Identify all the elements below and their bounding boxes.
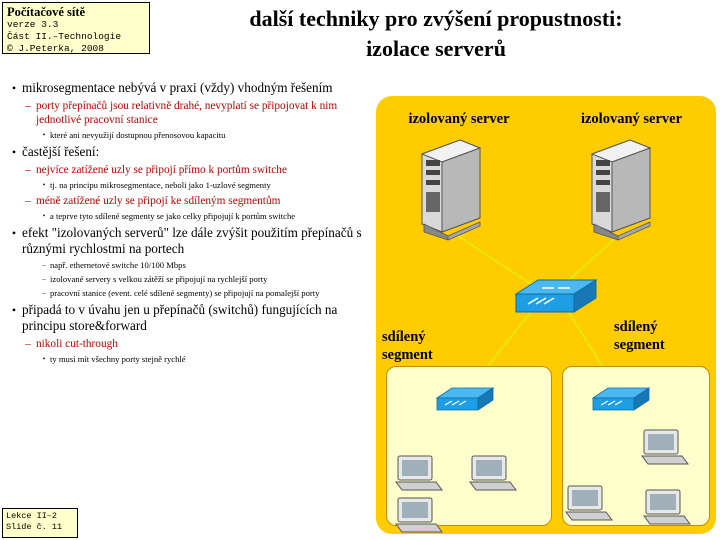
bullet-text: izolované servery s velkou zátěží se při…	[50, 274, 372, 285]
bullet-marker: –	[20, 163, 36, 177]
bullet-text: připadá to v úvahu jen u přepínačů (swit…	[22, 302, 372, 334]
workstation-icon	[394, 494, 450, 536]
list-item: •mikrosegmentace nebývá v praxi (vždy) v…	[6, 80, 372, 96]
bullet-list: •mikrosegmentace nebývá v praxi (vždy) v…	[6, 80, 372, 368]
list-item: –pracovní stanice (event. celé sdílené s…	[38, 288, 372, 299]
bullet-text: nejvíce zatížené uzly se připojí přímo k…	[36, 163, 372, 177]
page-title-line2: izolace serverů	[158, 34, 714, 64]
course-title: Počítačové sítě	[7, 5, 145, 19]
workstation-icon	[394, 452, 450, 494]
bullet-text: méně zatížené uzly se připojí ke sdílený…	[36, 194, 372, 208]
course-copyright: © J.Peterka, 2008	[7, 43, 145, 55]
server-tower-left-icon	[414, 136, 488, 241]
list-item: –nejvíce zatížené uzly se připojí přímo …	[20, 163, 372, 177]
list-item: –méně zatížené uzly se připojí ke sdílen…	[20, 194, 372, 208]
bullet-marker: •	[38, 211, 50, 222]
workstation-icon	[468, 452, 524, 494]
bullet-text: porty přepínačů jsou relativně drahé, ne…	[36, 99, 372, 127]
list-item: •častější řešení:	[6, 144, 372, 160]
bullet-text: tj. na principu mikrosegmentace, neboli …	[50, 180, 372, 191]
workstation-icon	[640, 426, 696, 468]
course-info-box: Počítačové sítě verze 3.3 Část II.–Techn…	[2, 2, 150, 54]
bullet-marker: –	[38, 260, 50, 271]
slide-footer: Lekce II–2 Slide č. 11	[2, 508, 78, 538]
bullet-text: efekt "izolovaných serverů" lze dále zvý…	[22, 225, 372, 257]
bullet-marker: –	[20, 194, 36, 208]
list-item: –izolované servery s velkou zátěží se př…	[38, 274, 372, 285]
bullet-marker: –	[20, 337, 36, 351]
server-tower-right-icon	[584, 136, 658, 241]
bullet-marker: •	[6, 302, 22, 334]
workstation-icon	[564, 482, 620, 524]
switch-left-icon	[434, 384, 496, 416]
bullet-text: které ani nevyužijí dostupnou přenosovou…	[50, 130, 372, 141]
switch-right-icon	[590, 384, 652, 416]
bullet-text: nikoli cut-through	[36, 337, 372, 351]
page-title-line1: další techniky pro zvýšení propustnosti:	[158, 4, 714, 34]
list-item: •efekt "izolovaných serverů" lze dále zv…	[6, 225, 372, 257]
label-shared-segment-left: sdílený segment	[382, 328, 492, 364]
bullet-marker: •	[6, 80, 22, 96]
course-version: verze 3.3	[7, 19, 145, 31]
course-part: Část II.–Technologie	[7, 31, 145, 43]
bullet-text: častější řešení:	[22, 144, 372, 160]
label-isolated-server-right: izolovaný server	[554, 110, 709, 128]
list-item: •a teprve tyto sdílené segmenty se jako …	[38, 211, 372, 222]
bullet-text: např. ethernetové switche 10/100 Mbps	[50, 260, 372, 271]
list-item: •tj. na principu mikrosegmentace, neboli…	[38, 180, 372, 191]
bullet-marker: –	[38, 274, 50, 285]
list-item: –porty přepínačů jsou relativně drahé, n…	[20, 99, 372, 127]
page-title: další techniky pro zvýšení propustnosti:…	[158, 4, 714, 64]
bullet-marker: •	[38, 180, 50, 191]
bullet-marker: •	[6, 144, 22, 160]
bullet-text: mikrosegmentace nebývá v praxi (vždy) vh…	[22, 80, 372, 96]
list-item: •připadá to v úvahu jen u přepínačů (swi…	[6, 302, 372, 334]
bullet-marker: •	[38, 354, 50, 365]
bullet-marker: •	[38, 130, 50, 141]
label-shared-segment-right: sdílený segment	[614, 318, 714, 354]
list-item: –nikoli cut-through	[20, 337, 372, 351]
network-diagram: izolovaný server izolovaný server sdílen…	[376, 96, 716, 534]
list-item: –např. ethernetové switche 10/100 Mbps	[38, 260, 372, 271]
workstation-icon	[642, 486, 698, 528]
lecture-number: Lekce II–2	[6, 511, 74, 522]
label-isolated-server-left: izolovaný server	[384, 110, 534, 128]
central-switch-icon	[512, 274, 600, 322]
bullet-text: ty musí mít všechny porty stejně rychlé	[50, 354, 372, 365]
bullet-marker: •	[6, 225, 22, 257]
bullet-marker: –	[38, 288, 50, 299]
bullet-text: a teprve tyto sdílené segmenty se jako c…	[50, 211, 372, 222]
slide-number: Slide č. 11	[6, 522, 74, 533]
bullet-marker: –	[20, 99, 36, 127]
list-item: •ty musí mít všechny porty stejně rychlé	[38, 354, 372, 365]
list-item: •které ani nevyužijí dostupnou přenosovo…	[38, 130, 372, 141]
bullet-text: pracovní stanice (event. celé sdílené se…	[50, 288, 372, 299]
